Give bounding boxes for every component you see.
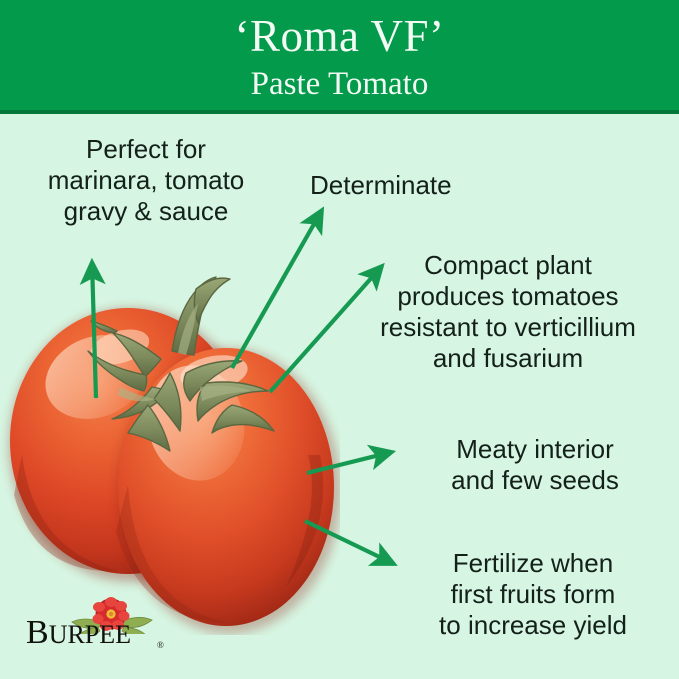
callout-meaty: Meaty interior and few seeds	[404, 434, 666, 496]
page-subtitle: Paste Tomato	[0, 65, 679, 103]
registered-trademark-icon: ®	[157, 640, 164, 650]
burpee-wordmark-first-letter: B	[26, 614, 49, 651]
callout-determinate: Determinate	[310, 170, 610, 201]
callout-compact: Compact plant produces tomatoes resistan…	[337, 250, 679, 374]
seed-packet-infographic: ‘Roma VF’ Paste Tomato	[0, 0, 679, 679]
callout-fertilize: Fertilize when first fruits form to incr…	[400, 548, 666, 641]
callout-marinara: Perfect for marinara, tomato gravy & sau…	[12, 134, 280, 227]
burpee-logo[interactable]: BURPEE ®	[26, 596, 178, 652]
tomato-photo	[0, 255, 340, 635]
burpee-wordmark: BURPEE	[26, 616, 131, 652]
header-divider-rule	[0, 110, 679, 114]
page-title: ‘Roma VF’	[0, 10, 679, 62]
burpee-wordmark-rest: URPEE	[49, 620, 131, 649]
